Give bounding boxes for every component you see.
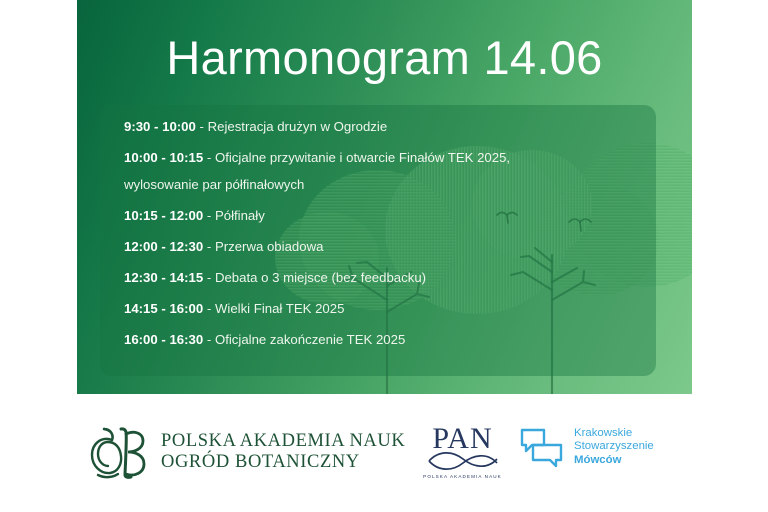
pan-subtitle: POLSKA AKADEMIA NAUK xyxy=(415,474,510,479)
schedule-item-description: Oficjalne przywitanie i otwarcie Finałów… xyxy=(215,150,510,165)
logo-ksm: Krakowskie Stowarzyszenie Mówców xyxy=(519,426,654,468)
ksm-line1: Krakowskie xyxy=(574,427,654,440)
logo-pan: PAN POLSKA AKADEMIA NAUK xyxy=(415,423,510,479)
schedule-item: 9:30 - 10:00 - Rejestracja drużyn w Ogro… xyxy=(124,119,634,135)
speech-bubbles-icon xyxy=(519,426,565,468)
schedule-item-description: Wielki Finał TEK 2025 xyxy=(215,301,345,316)
ksm-text-block: Krakowskie Stowarzyszenie Mówców xyxy=(574,427,654,467)
ob-monogram-icon xyxy=(88,423,150,481)
poster-banner: Harmonogram 14.06 9:30 - 10:00 - Rejestr… xyxy=(77,0,692,394)
logo-ogrod-botaniczny: POLSKA AKADEMIA NAUK OGRÓD BOTANICZNY xyxy=(88,423,405,481)
schedule-item: 12:30 - 14:15 - Debata o 3 miejsce (bez … xyxy=(124,270,634,286)
schedule-item-time: 14:15 - 16:00 xyxy=(124,301,203,316)
schedule-item-time: 10:00 - 10:15 xyxy=(124,150,203,165)
schedule-item-separator: - xyxy=(207,301,211,316)
ogrod-line1: POLSKA AKADEMIA NAUK xyxy=(161,431,405,452)
schedule-item: 12:00 - 12:30 - Przerwa obiadowa xyxy=(124,239,634,255)
ogrod-text-block: POLSKA AKADEMIA NAUK OGRÓD BOTANICZNY xyxy=(161,431,405,473)
schedule-item-time: 10:15 - 12:00 xyxy=(124,208,203,223)
schedule-item-separator: - xyxy=(207,332,211,347)
schedule-item-description: Oficjalne zakończenie TEK 2025 xyxy=(215,332,405,347)
schedule-item-time: 12:00 - 12:30 xyxy=(124,239,203,254)
schedule-item-description: Debata o 3 miejsce (bez feedbacku) xyxy=(215,270,426,285)
ogrod-line2: OGRÓD BOTANICZNY xyxy=(161,452,405,473)
schedule-item-description: Przerwa obiadowa xyxy=(215,239,324,254)
schedule-item: 10:15 - 12:00 - Półfinały xyxy=(124,208,634,224)
schedule-item-time: 16:00 - 16:30 xyxy=(124,332,203,347)
schedule-item-time: 12:30 - 14:15 xyxy=(124,270,203,285)
schedule-item-description: Rejestracja drużyn w Ogrodzie xyxy=(208,119,388,134)
schedule-item: 14:15 - 16:00 - Wielki Finał TEK 2025 xyxy=(124,301,634,317)
ksm-line3: Mówców xyxy=(574,454,654,467)
schedule-item-separator: - xyxy=(200,119,204,134)
schedule-item-separator: - xyxy=(207,239,211,254)
schedule-item-separator: - xyxy=(207,150,211,165)
schedule-item-description: Półfinały xyxy=(215,208,265,223)
schedule-item-time: 9:30 - 10:00 xyxy=(124,119,196,134)
ksm-line2: Stowarzyszenie xyxy=(574,440,654,453)
schedule-item-separator: - xyxy=(207,270,211,285)
page-title: Harmonogram 14.06 xyxy=(77,30,692,86)
schedule-item-separator: - xyxy=(207,208,211,223)
schedule-panel: 9:30 - 10:00 - Rejestracja drużyn w Ogro… xyxy=(100,105,656,376)
schedule-item: 16:00 - 16:30 - Oficjalne zakończenie TE… xyxy=(124,332,634,348)
schedule-item: 10:00 - 10:15 - Oficjalne przywitanie i … xyxy=(124,150,634,193)
schedule-item-continuation: wylosowanie par półfinałowych xyxy=(124,177,634,193)
logo-bar: POLSKA AKADEMIA NAUK OGRÓD BOTANICZNY PA… xyxy=(0,405,768,495)
